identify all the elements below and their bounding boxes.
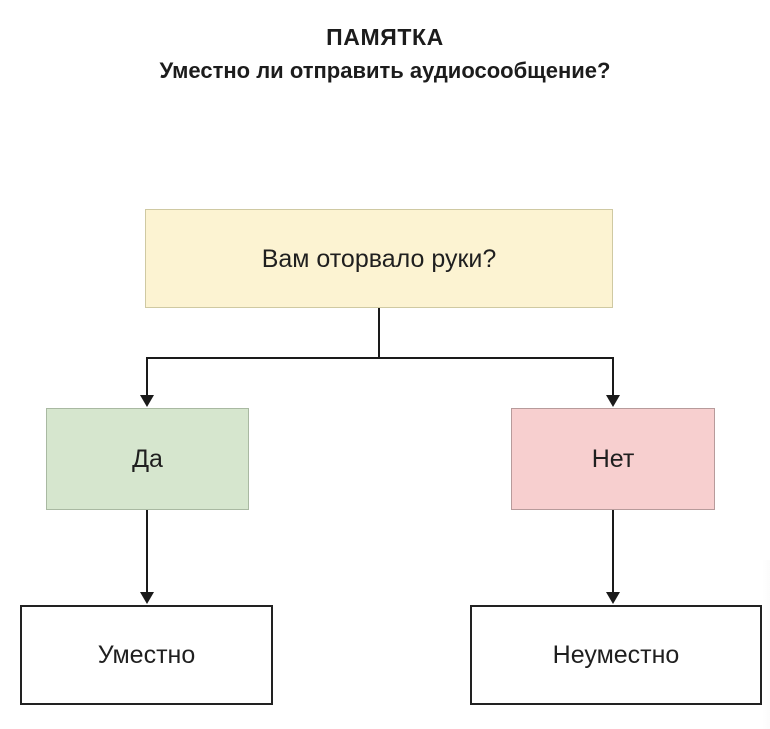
flow-node-appropriate-label: Уместно: [90, 640, 204, 670]
connector-to-yes: [146, 357, 148, 397]
connector-question-stem: [378, 308, 380, 359]
arrowhead-to-appropriate-icon: [140, 592, 154, 604]
page-title: ПАМЯТКА: [0, 22, 770, 52]
connector-to-no: [612, 357, 614, 397]
flow-node-inappropriate: Неуместно: [470, 605, 762, 705]
flow-node-question-label: Вам оторвало руки?: [254, 244, 505, 274]
flow-node-question: Вам оторвало руки?: [145, 209, 613, 308]
page-subtitle: Уместно ли отправить аудиосообщение?: [0, 56, 770, 86]
flow-node-yes-label: Да: [124, 444, 171, 474]
connector-no-to-inappropriate: [612, 510, 614, 594]
flowchart-canvas: ПАМЯТКА Уместно ли отправить аудиосообще…: [0, 0, 770, 729]
flow-node-inappropriate-label: Неуместно: [545, 640, 688, 670]
flow-node-no-label: Нет: [584, 444, 643, 474]
arrowhead-to-no-icon: [606, 395, 620, 407]
connector-yes-to-appropriate: [146, 510, 148, 594]
flow-node-appropriate: Уместно: [20, 605, 273, 705]
arrowhead-to-yes-icon: [140, 395, 154, 407]
flow-node-yes: Да: [46, 408, 249, 510]
flow-node-no: Нет: [511, 408, 715, 510]
heading-block: ПАМЯТКА Уместно ли отправить аудиосообще…: [0, 22, 770, 86]
connector-split-bar: [146, 357, 614, 359]
scan-edge-artifact: [762, 560, 770, 729]
arrowhead-to-inappropriate-icon: [606, 592, 620, 604]
